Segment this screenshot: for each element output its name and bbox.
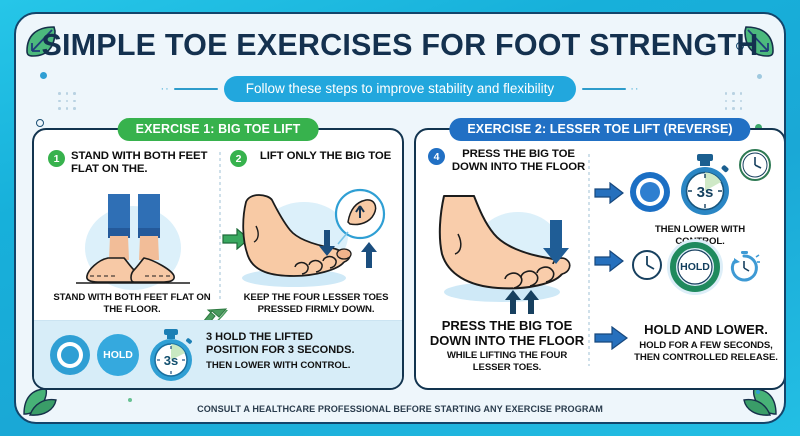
subtitle-dash-right: ··: [582, 84, 639, 95]
deco-ring: [36, 119, 44, 127]
arrow-right-blue-icon-mid: [594, 250, 624, 272]
step-2-heading: 2 LIFT ONLY THE BIG TOE: [230, 150, 398, 167]
ring-icon: [628, 170, 672, 214]
panel-2-body: 4 PRESS THE BIG TOE DOWN INTO THE FLOOR: [416, 130, 784, 388]
subtitle-row: ·· Follow these steps to improve stabili…: [16, 76, 784, 102]
hold-and-lower-heading: HOLD AND LOWER.: [626, 322, 784, 337]
step-2: 2 LIFT ONLY THE BIG TOE: [230, 150, 398, 167]
step-1-title: STAND WITH BOTH FEET FLAT ON THE.: [71, 150, 216, 177]
stopwatch-icon: 3s: [144, 327, 198, 383]
step-number-badge: 2: [230, 150, 247, 167]
panel-1-body: 1 STAND WITH BOTH FEET FLAT ON THE.: [34, 130, 402, 388]
hold-line-1: 3 HOLD THE LIFTED: [206, 331, 394, 344]
card-surface: SIMPLE TOE EXERCISES FOR FOOT STRENGTH ·…: [14, 12, 786, 424]
page-title: SIMPLE TOE EXERCISES FOR FOOT STRENGTH: [16, 28, 784, 63]
step-4-title: PRESS THE BIG TOE DOWN INTO THE FLOOR: [451, 148, 586, 175]
step-4-heading: 4 PRESS THE BIG TOE DOWN INTO THE FLOOR: [428, 148, 586, 175]
timer-icon: [726, 248, 762, 284]
arrow-right-blue-icon-bottom: [594, 326, 628, 350]
bottom-caption-sub-2: LESSER TOES.: [424, 362, 590, 374]
dash-dots-icon: ··: [160, 84, 169, 95]
bottom-caption-sub-1: WHILE LIFTING THE FOUR: [424, 350, 590, 362]
left-bottom-caption: PRESS THE BIG TOE DOWN INTO THE FLOOR WH…: [424, 318, 590, 373]
stopwatch-icon: 3s: [674, 152, 736, 218]
hold-strip: HOLD 3s: [34, 320, 402, 388]
stopwatch-label: 3s: [697, 184, 714, 201]
step-2-caption: KEEP THE FOUR LESSER TOES PRESSED FIRMLY…: [228, 292, 402, 315]
bottom-caption-line-1: PRESS THE BIG TOE: [424, 318, 590, 333]
right-bottom-caption: HOLD AND LOWER. HOLD FOR A FEW SECONDS, …: [626, 322, 784, 363]
hold-caption-line-1: HOLD FOR A FEW SECONDS,: [626, 340, 784, 352]
dash-line-icon: [174, 88, 218, 91]
hold-line-3: THEN LOWER WITH CONTROL.: [206, 360, 394, 372]
subtitle-pill: Follow these steps to improve stability …: [224, 76, 576, 102]
panel-2-badge: EXERCISE 2: LESSER TOE LIFT (REVERSE): [449, 118, 750, 141]
step-4: 4 PRESS THE BIG TOE DOWN INTO THE FLOOR: [428, 148, 586, 175]
step-number-badge: 4: [428, 148, 445, 165]
bottom-caption-line-2: DOWN INTO THE FLOOR: [424, 333, 590, 348]
outer-frame: SIMPLE TOE EXERCISES FOR FOOT STRENGTH ·…: [0, 0, 800, 436]
step-divider: [219, 152, 221, 302]
arrow-right-blue-icon-top: [594, 182, 624, 204]
two-feet-standing-illustration: [68, 190, 198, 290]
subtitle-dash-left: ··: [160, 84, 217, 95]
dash-line-icon: [582, 88, 626, 91]
step-1: 1 STAND WITH BOTH FEET FLAT ON THE.: [48, 150, 216, 177]
step-2-title: LIFT ONLY THE BIG TOE: [253, 150, 398, 163]
clock-icon: [630, 248, 664, 282]
step-number-badge: 1: [48, 150, 65, 167]
svg-text:3s: 3s: [164, 353, 178, 368]
hold-strip-text: 3 HOLD THE LIFTED POSITION FOR 3 SECONDS…: [206, 331, 394, 372]
deco-dot: [128, 398, 132, 402]
hold-label: HOLD: [96, 333, 140, 377]
exercise-panel-1: EXERCISE 1: BIG TOE LIFT 1 STAND WITH BO…: [32, 128, 404, 390]
step-1-heading: 1 STAND WITH BOTH FEET FLAT ON THE.: [48, 150, 216, 177]
hold-line-2: POSITION FOR 3 SECONDS.: [206, 344, 394, 357]
panel-1-badge: EXERCISE 1: BIG TOE LIFT: [118, 118, 319, 141]
dash-dots-icon: ··: [630, 84, 639, 95]
hold-caption-line-2: THEN CONTROLLED RELEASE.: [626, 352, 784, 364]
deco-dot: [756, 390, 760, 394]
exercise-panel-2: EXERCISE 2: LESSER TOE LIFT (REVERSE) 4 …: [414, 128, 786, 390]
big-toe-lift-illustration: [232, 188, 400, 292]
caption-line-1: THEN LOWER WITH: [612, 224, 784, 236]
press-big-toe-illustration: [422, 190, 592, 316]
hold-label: HOLD: [666, 238, 724, 296]
footer-disclaimer: CONSULT A HEALTHCARE PROFESSIONAL BEFORE…: [16, 404, 784, 414]
ring-icon: [48, 333, 92, 377]
clock-icon: [738, 148, 772, 182]
